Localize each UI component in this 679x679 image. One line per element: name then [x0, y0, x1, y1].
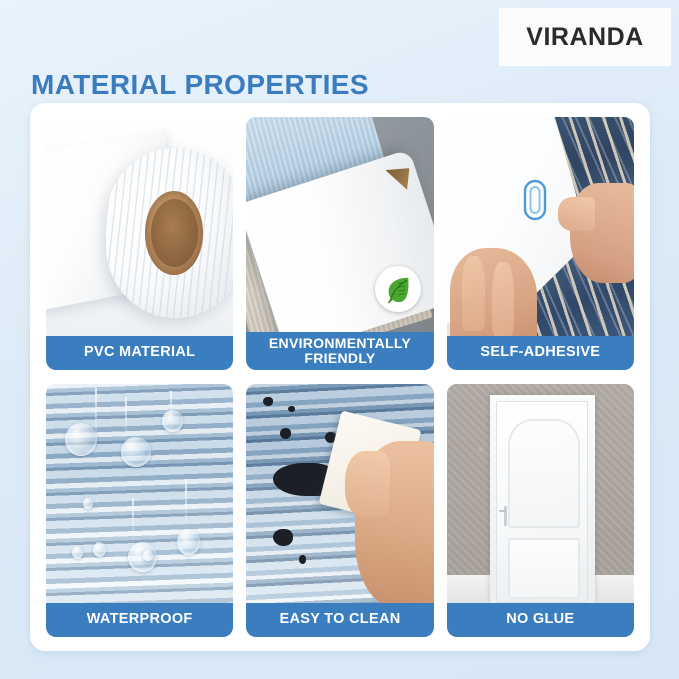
card-environmentally-friendly[interactable]: ENVIRONMENTALLY FRIENDLY [246, 117, 433, 370]
white-door [496, 401, 588, 603]
card-label-easy-to-clean: EASY TO CLEAN [246, 603, 433, 637]
card-easy-to-clean[interactable]: EASY TO CLEAN [246, 384, 433, 637]
easy-to-clean-image [246, 384, 433, 603]
water-droplet [65, 423, 97, 456]
waterproof-image [46, 384, 233, 603]
left-hand [450, 248, 536, 336]
handle-lever [499, 510, 506, 513]
stain-spot [273, 529, 294, 547]
brand-logo: VIRANDA [500, 9, 670, 65]
page-title: MATERIAL PROPERTIES [31, 69, 369, 101]
stain-spot [288, 406, 295, 413]
stain-spot [299, 555, 306, 564]
card-self-adhesive[interactable]: SELF-ADHESIVE [447, 117, 634, 370]
paperclip-glyph [522, 178, 548, 222]
card-label-no-glue: NO GLUE [447, 603, 634, 637]
water-streak [185, 480, 187, 533]
water-streak [132, 498, 134, 546]
water-droplet [121, 437, 151, 468]
card-label-pvc-material: PVC MATERIAL [46, 336, 233, 370]
water-droplet [83, 498, 92, 509]
card-label-self-adhesive: SELF-ADHESIVE [447, 336, 634, 370]
door-panel-top [508, 419, 580, 528]
door-frame [490, 395, 595, 603]
water-droplet [162, 410, 183, 432]
peel-corner-tip [385, 163, 415, 194]
card-pvc-material[interactable]: PVC MATERIAL [46, 117, 233, 370]
eco-peel-image [246, 117, 433, 332]
hand-holding-cloth [355, 441, 434, 603]
self-adhesive-image [447, 117, 634, 336]
card-label-environmentally-friendly: ENVIRONMENTALLY FRIENDLY [246, 332, 433, 370]
water-droplet [177, 529, 199, 555]
card-no-glue[interactable]: NO GLUE [447, 384, 634, 637]
water-droplet [72, 546, 83, 559]
door-panel-bottom [508, 538, 580, 599]
door-handle [500, 506, 512, 526]
brand-name: VIRANDA [526, 23, 643, 52]
water-droplet [93, 542, 106, 557]
stain-spot [280, 428, 291, 439]
paperclip-icon [522, 178, 548, 227]
right-hand [570, 183, 634, 284]
no-glue-door-image [447, 384, 634, 603]
cards-panel: PVC MATERIAL [30, 103, 650, 651]
leaf-icon [383, 274, 413, 304]
material-properties-infographic: VIRANDA MATERIAL PROPERTIES PVC MATERIAL [0, 0, 679, 679]
water-streak [125, 397, 127, 441]
card-label-waterproof: WATERPROOF [46, 603, 233, 637]
stain-spot [263, 397, 272, 406]
cards-grid: PVC MATERIAL [46, 117, 634, 637]
roll-core-inner [151, 199, 198, 267]
green-leaf-eco-badge [375, 266, 421, 312]
pvc-roll-image [46, 117, 233, 336]
card-waterproof[interactable]: WATERPROOF [46, 384, 233, 637]
